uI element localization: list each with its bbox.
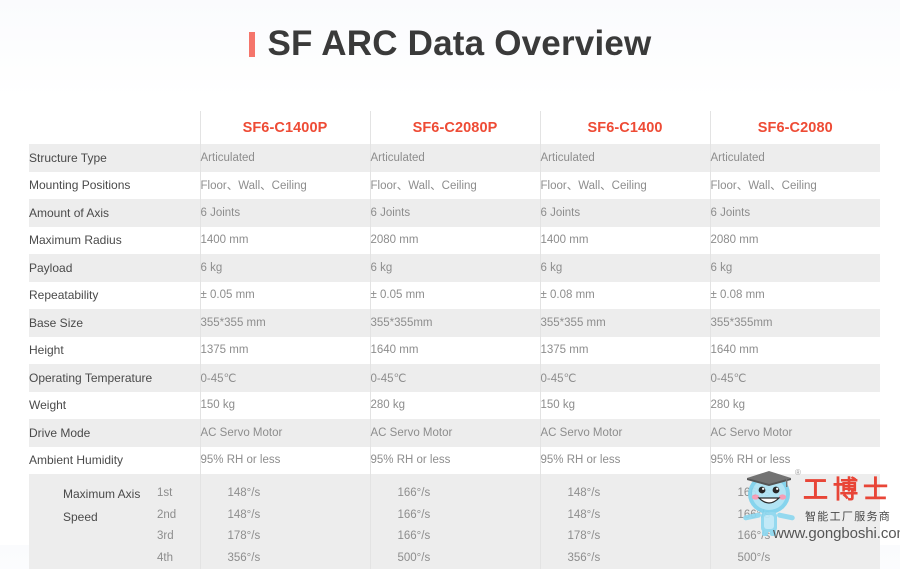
cell-value: 1400 mm [200, 227, 370, 255]
cell-value: 355*355 mm [200, 309, 370, 337]
cell-value: Articulated [200, 144, 370, 172]
table-header-row: SF6-C1400P SF6-C2080P SF6-C1400 SF6-C208… [29, 111, 880, 144]
spec-table: SF6-C1400P SF6-C2080P SF6-C1400 SF6-C208… [29, 111, 880, 569]
speed-value: 500°/s [738, 548, 881, 569]
row-label: Weight [29, 392, 200, 420]
cell-value: Articulated [540, 144, 710, 172]
row-label: Height [29, 337, 200, 365]
speed-value: 166°/s [738, 483, 881, 505]
cell-value: AC Servo Motor [710, 419, 880, 447]
cell-value: 150 kg [200, 392, 370, 420]
cell-value: 2080 mm [370, 227, 540, 255]
speed-value: 500°/s [398, 548, 540, 569]
table-row: Mounting PositionsFloor、Wall、CeilingFloo… [29, 172, 880, 200]
table-row: Payload6 kg6 kg6 kg6 kg [29, 254, 880, 282]
table-row: Amount of Axis6 Joints6 Joints6 Joints6 … [29, 199, 880, 227]
cell-value: AC Servo Motor [370, 419, 540, 447]
speed-value: 166°/s [398, 483, 540, 505]
table-row-max-axis-speed: Maximum AxisSpeed1st2nd3rd4th148°/s148°/… [29, 474, 880, 569]
table-row: Repeatability± 0.05 mm± 0.05 mm± 0.08 mm… [29, 282, 880, 310]
cell-value: 6 Joints [370, 199, 540, 227]
speed-cell-column: 148°/s148°/s178°/s356°/s [200, 474, 370, 569]
cell-value: 0-45℃ [540, 364, 710, 392]
column-header-sf6-c2080: SF6-C2080 [710, 111, 880, 144]
cell-value: 2080 mm [710, 227, 880, 255]
speed-value: 148°/s [568, 483, 710, 505]
cell-value: AC Servo Motor [200, 419, 370, 447]
cell-value: 95% RH or less [540, 447, 710, 475]
table-row: Drive ModeAC Servo MotorAC Servo MotorAC… [29, 419, 880, 447]
speed-value: 166°/s [398, 505, 540, 527]
cell-value: Articulated [370, 144, 540, 172]
cell-value: 6 kg [710, 254, 880, 282]
cell-value: 95% RH or less [710, 447, 880, 475]
cell-value: 6 Joints [710, 199, 880, 227]
table-row: Maximum Radius1400 mm2080 mm1400 mm2080 … [29, 227, 880, 255]
cell-value: 95% RH or less [200, 447, 370, 475]
speed-ordinal-list: 1st2nd3rd4th [157, 483, 176, 569]
cell-value: 6 kg [540, 254, 710, 282]
cell-value: 1375 mm [540, 337, 710, 365]
cell-value: 280 kg [370, 392, 540, 420]
speed-value: 166°/s [738, 526, 881, 548]
spec-table-head: SF6-C1400P SF6-C2080P SF6-C1400 SF6-C208… [29, 111, 880, 144]
speed-value: 148°/s [228, 505, 370, 527]
cell-value: Floor、Wall、Ceiling [370, 172, 540, 200]
speed-ordinal: 4th [157, 548, 176, 569]
title-accent-bar [249, 32, 255, 57]
cell-value: 355*355mm [710, 309, 880, 337]
cell-value: 6 Joints [540, 199, 710, 227]
row-label: Amount of Axis [29, 199, 200, 227]
cell-value: 150 kg [540, 392, 710, 420]
speed-ordinal: 2nd [157, 505, 176, 527]
cell-value: 1400 mm [540, 227, 710, 255]
speed-cell-column: 166°/s166°/s166°/s500°/s [710, 474, 880, 569]
row-label: Maximum Radius [29, 227, 200, 255]
speed-cell-column: 166°/s166°/s166°/s500°/s [370, 474, 540, 569]
row-label-speed: Maximum AxisSpeed1st2nd3rd4th [29, 474, 200, 569]
cell-value: ± 0.08 mm [710, 282, 880, 310]
cell-value: Floor、Wall、Ceiling [540, 172, 710, 200]
speed-value: 356°/s [228, 548, 370, 569]
cell-value: 0-45℃ [370, 364, 540, 392]
speed-value: 178°/s [568, 526, 710, 548]
speed-value: 148°/s [568, 505, 710, 527]
cell-value: 280 kg [710, 392, 880, 420]
cell-value: 6 kg [370, 254, 540, 282]
speed-value: 356°/s [568, 548, 710, 569]
page-title-text: SF ARC Data Overview [268, 24, 652, 63]
table-row: Base Size355*355 mm355*355mm355*355 mm35… [29, 309, 880, 337]
cell-value: ± 0.05 mm [370, 282, 540, 310]
table-row: Height1375 mm1640 mm1375 mm1640 mm [29, 337, 880, 365]
row-label: Payload [29, 254, 200, 282]
cell-value: 95% RH or less [370, 447, 540, 475]
spec-table-wrap: SF6-C1400P SF6-C2080P SF6-C1400 SF6-C208… [29, 111, 880, 569]
page-title-wrap: SF ARC Data Overview [0, 20, 900, 68]
row-label: Operating Temperature [29, 364, 200, 392]
cell-value: Floor、Wall、Ceiling [200, 172, 370, 200]
speed-value: 148°/s [228, 483, 370, 505]
cell-value: 1375 mm [200, 337, 370, 365]
table-row: Operating Temperature0-45℃0-45℃0-45℃0-45… [29, 364, 880, 392]
cell-value: 0-45℃ [710, 364, 880, 392]
table-row: Weight150 kg280 kg150 kg280 kg [29, 392, 880, 420]
row-label: Ambient Humidity [29, 447, 200, 475]
page-root: SF ARC Data Overview SF6-C1400P SF6-C208… [0, 0, 900, 545]
speed-label-line2: Speed [63, 506, 163, 529]
cell-value: Floor、Wall、Ceiling [710, 172, 880, 200]
cell-value: ± 0.08 mm [540, 282, 710, 310]
cell-value: 1640 mm [370, 337, 540, 365]
column-header-sf6-c1400p: SF6-C1400P [200, 111, 370, 144]
spec-table-body: Structure TypeArticulatedArticulatedArti… [29, 144, 880, 569]
cell-value: Articulated [710, 144, 880, 172]
cell-value: 355*355mm [370, 309, 540, 337]
cell-value: 6 kg [200, 254, 370, 282]
page-title: SF ARC Data Overview [249, 20, 652, 68]
column-header-sf6-c1400: SF6-C1400 [540, 111, 710, 144]
cell-value: 1640 mm [710, 337, 880, 365]
cell-value: 6 Joints [200, 199, 370, 227]
speed-ordinal: 1st [157, 483, 176, 505]
cell-value: 0-45℃ [200, 364, 370, 392]
row-label: Base Size [29, 309, 200, 337]
row-label: Drive Mode [29, 419, 200, 447]
table-row: Structure TypeArticulatedArticulatedArti… [29, 144, 880, 172]
row-label: Mounting Positions [29, 172, 200, 200]
speed-value: 178°/s [228, 526, 370, 548]
cell-value: 355*355 mm [540, 309, 710, 337]
row-label: Structure Type [29, 144, 200, 172]
cell-value: ± 0.05 mm [200, 282, 370, 310]
speed-value: 166°/s [398, 526, 540, 548]
column-header-sf6-c2080p: SF6-C2080P [370, 111, 540, 144]
speed-ordinal: 3rd [157, 526, 176, 548]
speed-value: 166°/s [738, 505, 881, 527]
table-row: Ambient Humidity95% RH or less95% RH or … [29, 447, 880, 475]
cell-value: AC Servo Motor [540, 419, 710, 447]
speed-label-line1: Maximum Axis [63, 483, 163, 506]
row-label: Repeatability [29, 282, 200, 310]
speed-cell-column: 148°/s148°/s178°/s356°/s [540, 474, 710, 569]
column-header-blank [29, 111, 200, 144]
